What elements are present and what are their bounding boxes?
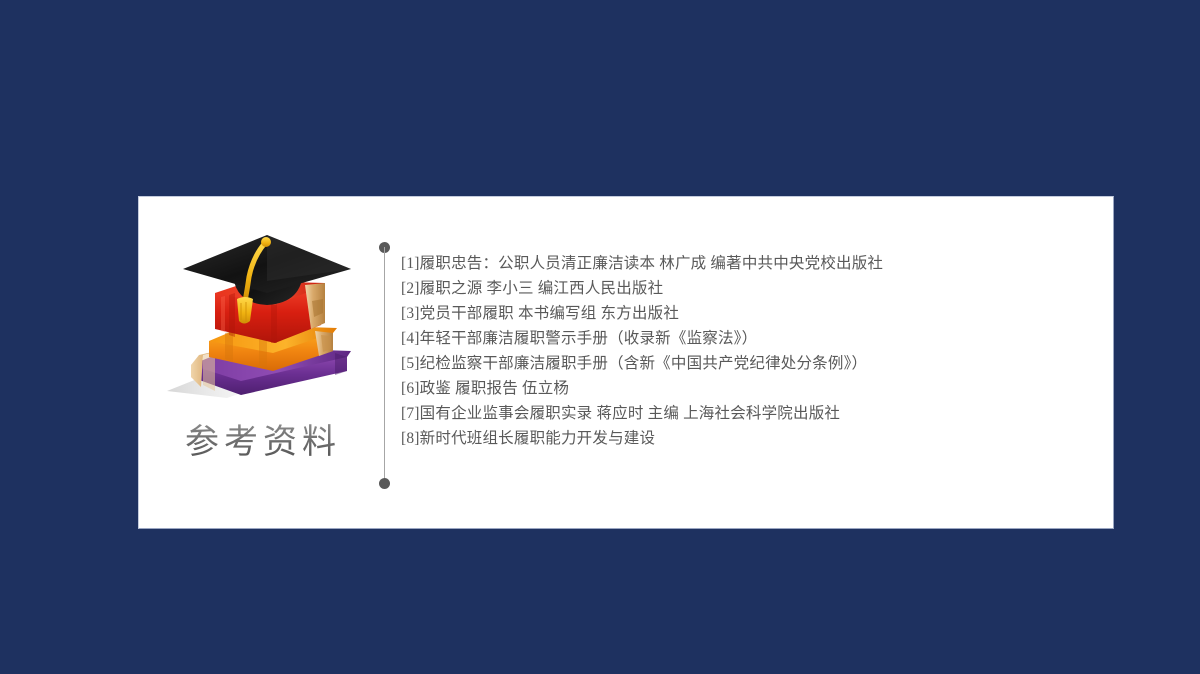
divider-line [384, 247, 385, 484]
list-item: [8]新时代班组长履职能力开发与建设 [401, 426, 1091, 451]
divider-dot-bottom-icon [379, 478, 390, 489]
list-item: [4]年轻干部廉洁履职警示手册（收录新《监察法》） [401, 326, 1091, 351]
page-title: 参考资料 [155, 421, 371, 465]
graduation-cap-on-books-icon [155, 225, 371, 413]
list-item: [2]履职之源 李小三 编江西人民出版社 [401, 276, 1091, 301]
list-item: [3]党员干部履职 本书编写组 东方出版社 [401, 301, 1091, 326]
slide-root: 参考资料 [1]履职忠告：公职人员清正廉洁读本 林广成 编著中共中央党校出版社 … [0, 0, 1200, 674]
list-item: [6]政鉴 履职报告 伍立杨 [401, 376, 1091, 401]
list-item: [1]履职忠告：公职人员清正廉洁读本 林广成 编著中共中央党校出版社 [401, 251, 1091, 276]
illustration-block: 参考资料 [155, 225, 371, 500]
content-panel: 参考资料 [1]履职忠告：公职人员清正廉洁读本 林广成 编著中共中央党校出版社 … [138, 196, 1114, 529]
list-item: [7]国有企业监事会履职实录 蒋应时 主编 上海社会科学院出版社 [401, 401, 1091, 426]
reference-list: [1]履职忠告：公职人员清正廉洁读本 林广成 编著中共中央党校出版社 [2]履职… [401, 251, 1091, 451]
vertical-divider [379, 242, 390, 489]
list-item: [5]纪检监察干部廉洁履职手册（含新《中国共产党纪律处分条例》） [401, 351, 1091, 376]
